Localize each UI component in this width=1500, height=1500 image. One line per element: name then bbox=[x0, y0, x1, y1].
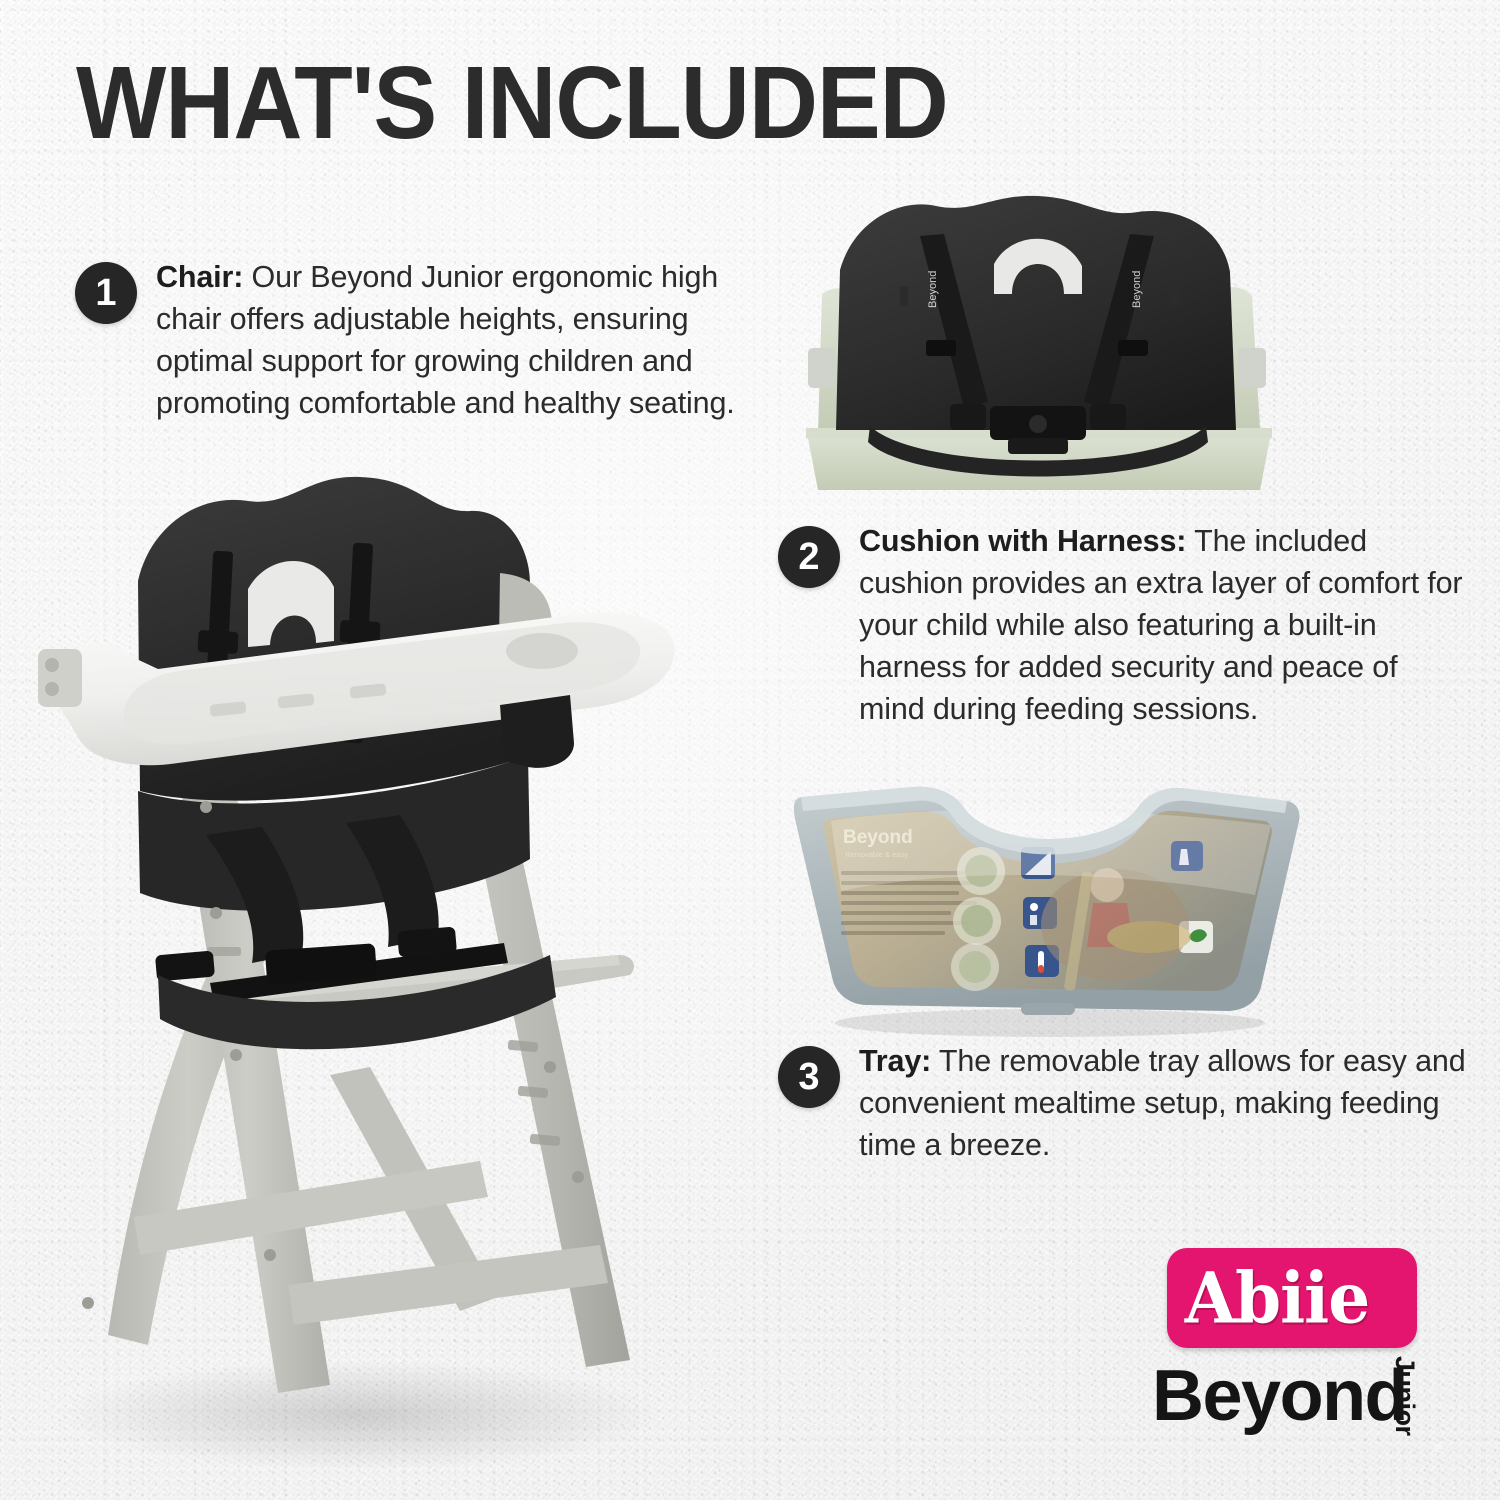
tray-front-notch bbox=[1021, 1003, 1075, 1015]
list-item-heading: Chair: bbox=[156, 260, 243, 294]
infographic-page: WHAT'S INCLUDED 1 Chair: Our Beyond Juni… bbox=[0, 0, 1500, 1500]
chair-tray-latch bbox=[500, 695, 574, 768]
list-item-chair: 1 Chair: Our Beyond Junior ergonomic hig… bbox=[75, 256, 765, 424]
list-item-text: Tray: The removable tray allows for easy… bbox=[859, 1040, 1468, 1166]
step-badge-2: 2 bbox=[778, 526, 840, 588]
list-item-text: Cushion with Harness: The included cushi… bbox=[859, 520, 1468, 730]
cushion-bracket-right bbox=[1238, 348, 1266, 388]
chair-shadow bbox=[60, 1360, 660, 1470]
list-item-heading: Cushion with Harness: bbox=[859, 524, 1186, 558]
chair-side-buckle-left bbox=[155, 951, 215, 982]
cushion-strap-label-right: Beyond bbox=[1131, 271, 1143, 308]
cushion-buckle-right bbox=[1090, 404, 1126, 430]
cushion-strap-label-left: Beyond bbox=[927, 271, 939, 308]
cushion-bracket-left bbox=[808, 348, 836, 388]
cushion-backrest bbox=[836, 196, 1236, 430]
chair-tray-bracket bbox=[38, 649, 82, 707]
step-badge-1: 1 bbox=[75, 262, 137, 324]
cushion-buckle-left bbox=[950, 404, 986, 430]
product-image-chair bbox=[30, 455, 690, 1475]
logo-wordmark-junior: Junior bbox=[1389, 1356, 1420, 1436]
list-item-body: Our Beyond Junior ergonomic high chair o… bbox=[156, 260, 735, 420]
logo-registered-mark: ® bbox=[1434, 1443, 1442, 1455]
product-image-tray: Beyond Removable & easy bbox=[785, 775, 1305, 1040]
chair-tray-cupholder bbox=[506, 633, 578, 669]
product-image-cushion: Beyond Beyond bbox=[778, 190, 1298, 500]
brand-logo: Abiie ® Beyond Junior bbox=[1152, 1248, 1452, 1463]
list-item-cushion: 2 Cushion with Harness: The included cus… bbox=[778, 520, 1468, 730]
list-item-text: Chair: Our Beyond Junior ergonomic high … bbox=[156, 256, 765, 424]
list-item-body: The removable tray allows for easy and c… bbox=[859, 1044, 1466, 1162]
list-item-tray: 3 Tray: The removable tray allows for ea… bbox=[778, 1040, 1468, 1166]
page-title: WHAT'S INCLUDED bbox=[76, 52, 948, 155]
logo-wordmark-beyond: Beyond bbox=[1152, 1360, 1407, 1432]
chair-side-buckle-right bbox=[397, 927, 457, 958]
list-item-heading: Tray: bbox=[859, 1044, 931, 1078]
step-badge-3: 3 bbox=[778, 1046, 840, 1108]
logo-wordmark-abiie: Abiie bbox=[1152, 1245, 1402, 1351]
